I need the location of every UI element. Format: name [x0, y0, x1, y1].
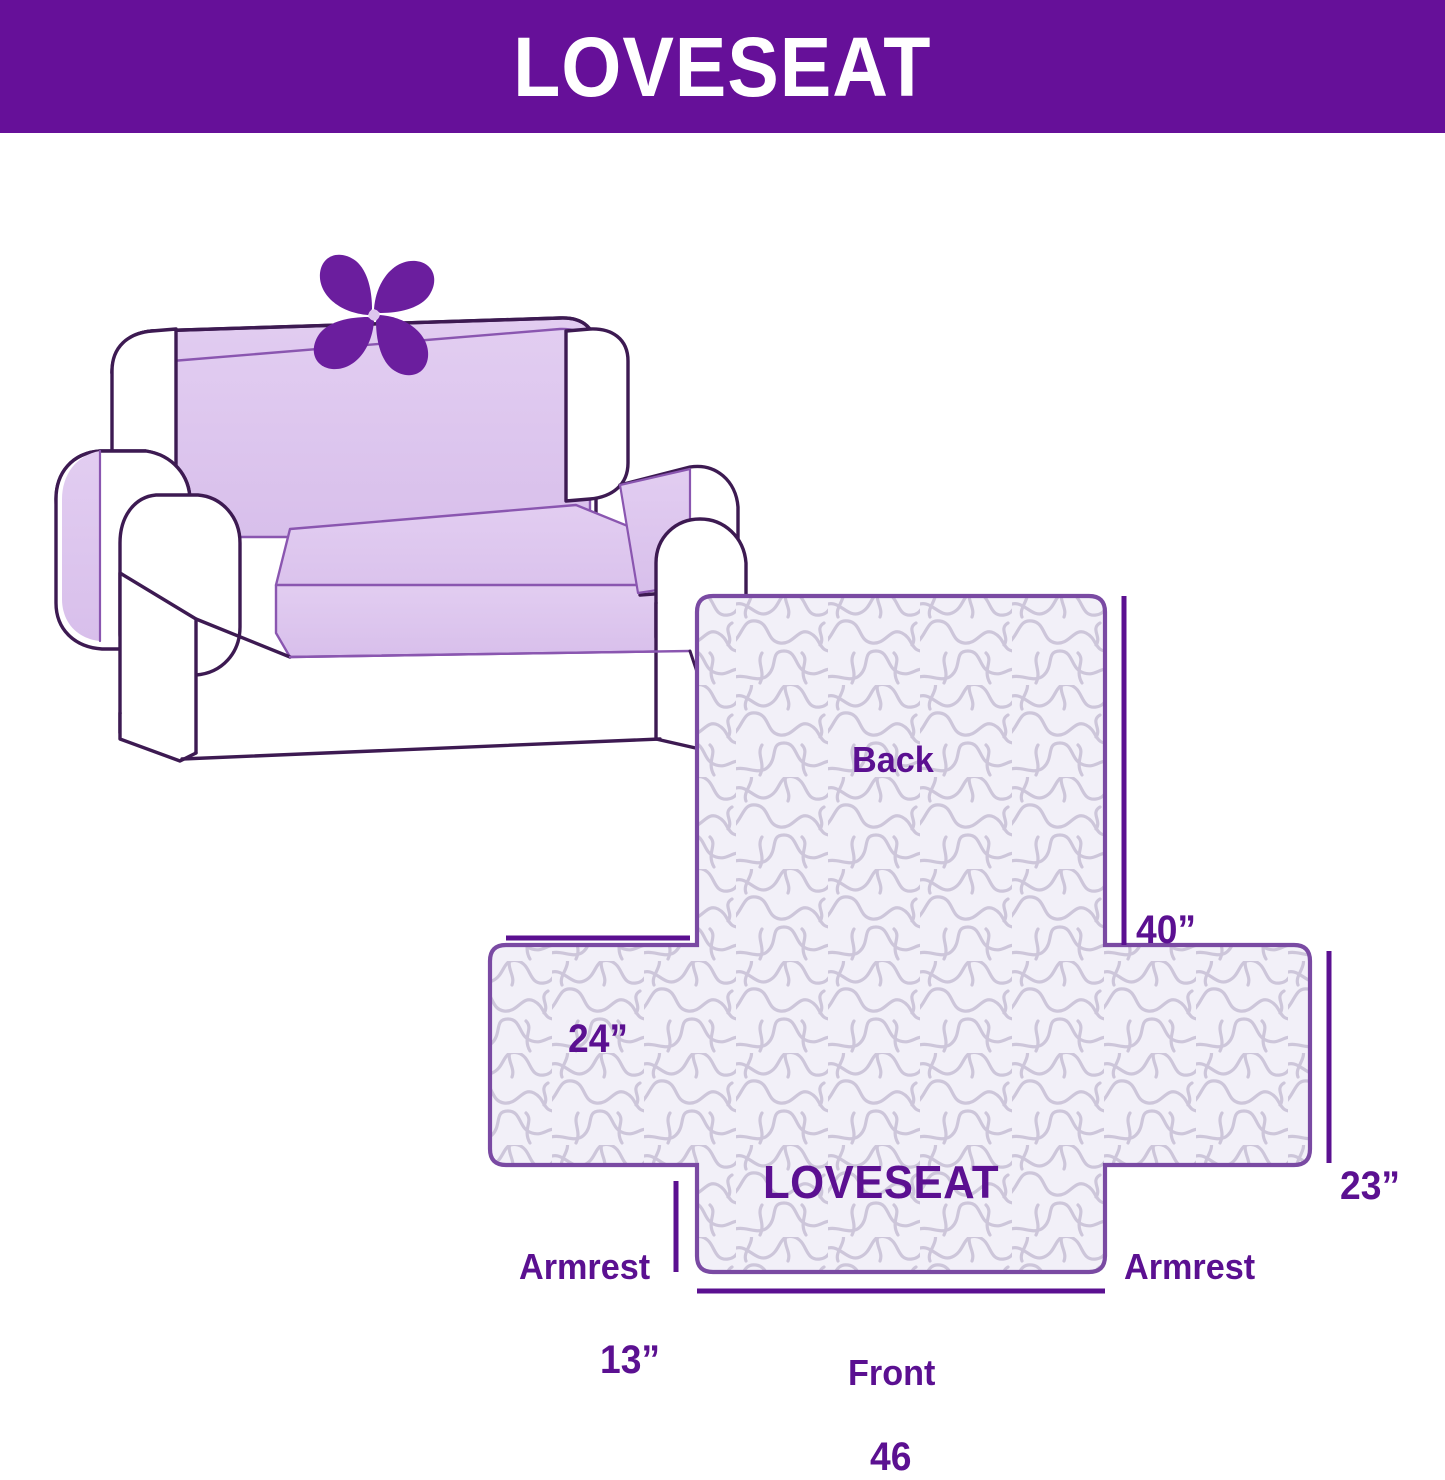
dimension-label-armrest-width: 24” [568, 1017, 628, 1062]
product-size-guide-page: LOVESEAT [0, 0, 1445, 1445]
panel-label-loveseat: LOVESEAT [763, 1155, 999, 1209]
panel-label-back: Back [852, 739, 934, 781]
header-banner: LOVESEAT [0, 0, 1445, 133]
dimension-label-front-width: 46 [870, 1435, 911, 1480]
dimension-label-center-height: 23” [1340, 1164, 1400, 1209]
panel-label-armrest-left: Armrest [519, 1246, 650, 1288]
panel-label-front: Front [848, 1352, 935, 1394]
panel-label-armrest-right: Armrest [1124, 1246, 1255, 1288]
page-title: LOVESEAT [513, 25, 931, 109]
dimension-label-back-height: 40” [1136, 908, 1196, 953]
loveseat-sofa-illustration [56, 318, 752, 761]
artwork-stage: Back LOVESEAT Armrest Armrest Front 40” … [0, 133, 1445, 1445]
dimension-label-front-depth: 13” [600, 1338, 660, 1383]
